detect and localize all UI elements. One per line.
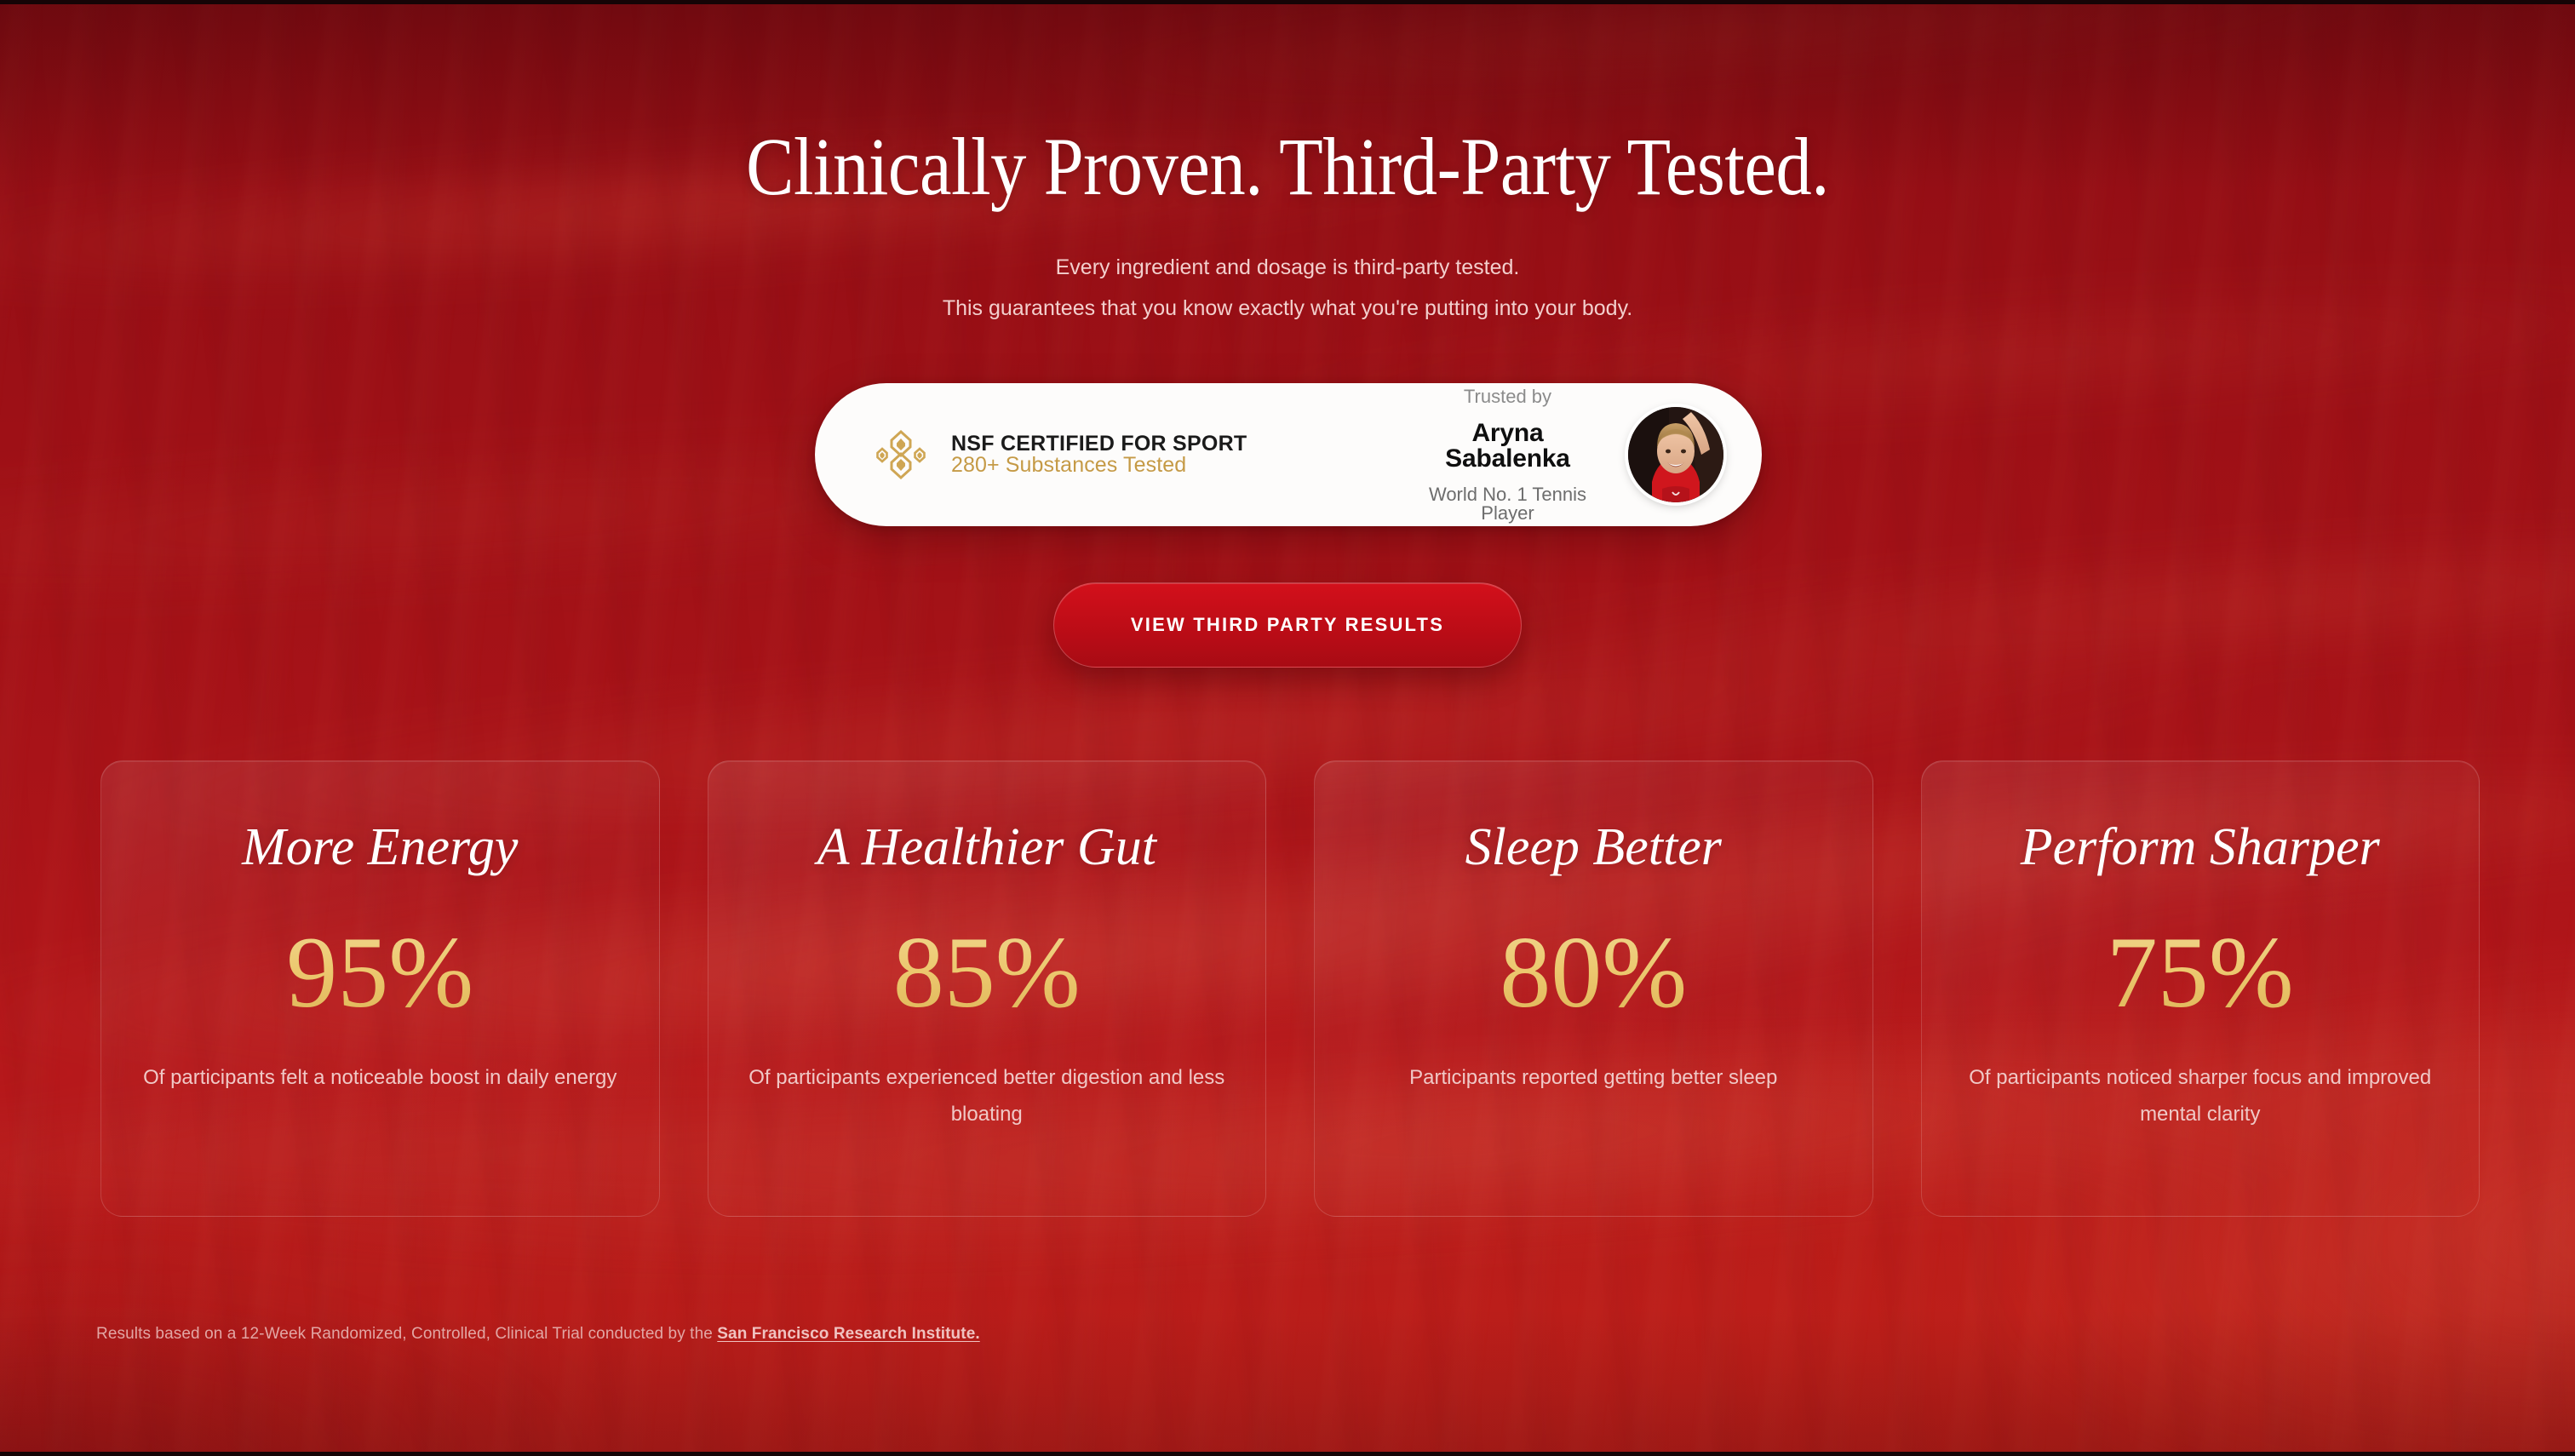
subtitle-line-1: Every ingredient and dosage is third-par… <box>0 247 2575 288</box>
page-content: Clinically Proven. Third-Party Tested. E… <box>0 0 2575 1456</box>
athlete-name: Aryna Sabalenka <box>1413 421 1603 472</box>
nsf-title: NSF CERTIFIED FOR SPORT <box>951 432 1247 456</box>
stat-card-title: More Energy <box>101 821 659 874</box>
certification-badge: NSF CERTIFIED FOR SPORT 280+ Substances … <box>815 383 1762 526</box>
stat-card-value: 95% <box>101 921 659 1023</box>
stat-card: A Healthier Gut 85% Of participants expe… <box>708 760 1267 1217</box>
trusted-by-label: Trusted by <box>1413 387 1603 406</box>
nsf-certification-block: NSF CERTIFIED FOR SPORT 280+ Substances … <box>876 428 1413 481</box>
top-edge-bar <box>0 0 2575 4</box>
stat-cards: More Energy 95% Of participants felt a n… <box>100 760 2480 1217</box>
stat-card-description: Of participants noticed sharper focus an… <box>1951 1059 2451 1132</box>
athlete-role: World No. 1 Tennis Player <box>1413 485 1603 523</box>
disclaimer-text: Results based on a 12-Week Randomized, C… <box>96 1325 717 1343</box>
stat-card-title: Sleep Better <box>1315 821 1872 874</box>
stat-card-description: Of participants experienced better diges… <box>737 1059 1237 1132</box>
stat-card: More Energy 95% Of participants felt a n… <box>100 760 660 1217</box>
nsf-subtitle: 280+ Substances Tested <box>951 453 1186 477</box>
page-background: Clinically Proven. Third-Party Tested. E… <box>0 0 2575 1456</box>
stat-card-value: 80% <box>1315 921 1872 1023</box>
research-institute-link[interactable]: San Francisco Research Institute. <box>717 1325 979 1343</box>
page-subtitle: Every ingredient and dosage is third-par… <box>0 247 2575 329</box>
nsf-diamond-cluster-icon <box>876 428 926 481</box>
stat-card-value: 85% <box>708 921 1266 1023</box>
page-title: Clinically Proven. Third-Party Tested. <box>154 123 2420 210</box>
stat-card-description: Of participants felt a noticeable boost … <box>130 1059 630 1096</box>
stat-card-description: Participants reported getting better sle… <box>1344 1059 1844 1096</box>
stat-card-title: Perform Sharper <box>1922 821 2480 874</box>
nsf-text-block: NSF CERTIFIED FOR SPORT 280+ Substances … <box>951 433 1413 476</box>
subtitle-line-2: This guarantees that you know exactly wh… <box>0 288 2575 329</box>
trusted-by-block: Trusted by Aryna Sabalenka World No. 1 T… <box>1413 387 1603 523</box>
stat-card: Perform Sharper 75% Of participants noti… <box>1921 760 2480 1217</box>
stat-card-value: 75% <box>1922 921 2480 1023</box>
stat-card: Sleep Better 80% Participants reported g… <box>1314 760 1873 1217</box>
stat-card-title: A Healthier Gut <box>708 821 1266 874</box>
bottom-edge-bar <box>0 1452 2575 1456</box>
view-third-party-results-button[interactable]: VIEW THIRD PARTY RESULTS <box>1053 582 1522 668</box>
avatar <box>1628 407 1723 502</box>
clinical-trial-disclaimer: Results based on a 12-Week Randomized, C… <box>96 1325 980 1344</box>
